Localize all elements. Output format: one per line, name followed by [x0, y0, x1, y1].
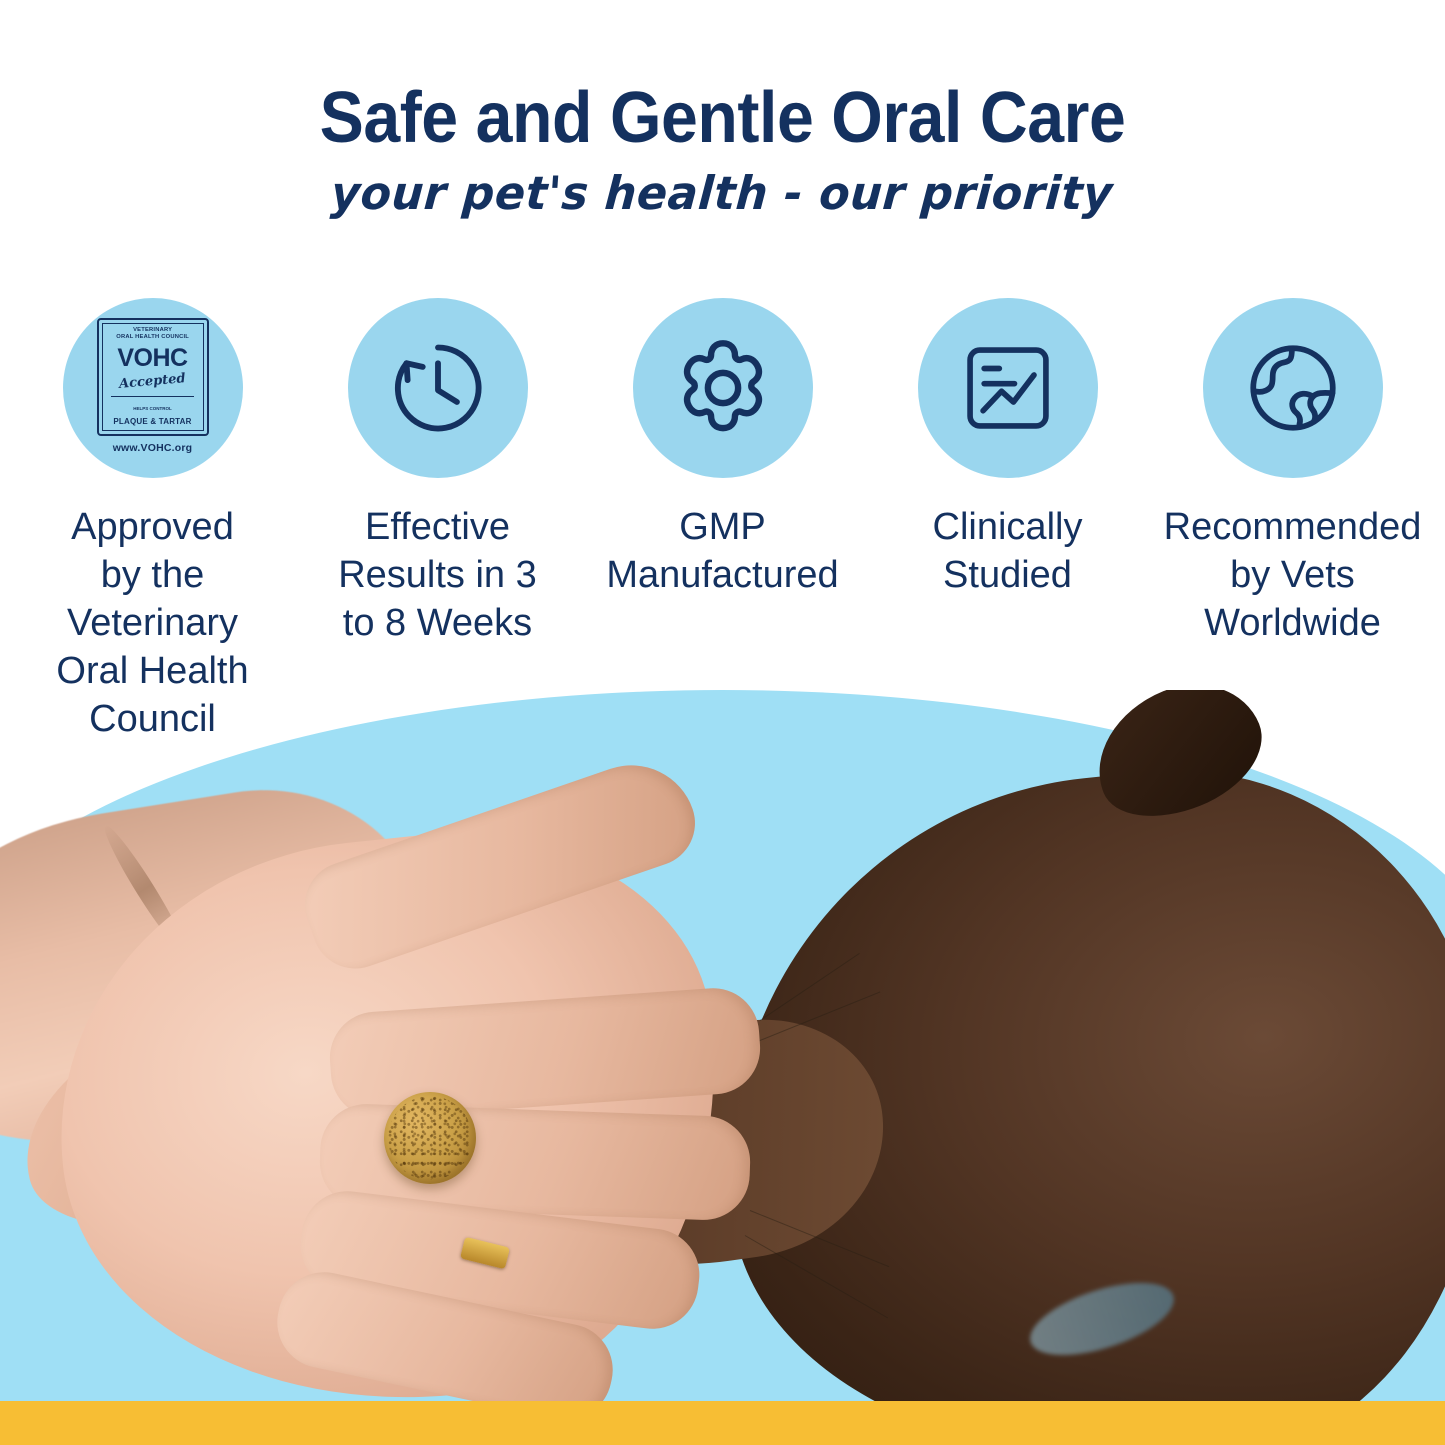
page-title: Safe and Gentle Oral Care [58, 0, 1387, 154]
vohc-seal-mark: VOHC [117, 347, 187, 371]
header: Safe and Gentle Oral Care your pet's hea… [0, 0, 1445, 216]
badge-caption: Recommended by Vets Worldwide [1163, 504, 1423, 648]
vohc-seal-script: Accepted [119, 372, 187, 391]
bottom-accent-bar [0, 1401, 1445, 1445]
product-lifestyle-photo [0, 690, 1445, 1402]
vohc-seal-icon: VETERINARY ORAL HEALTH COUNCIL VOHC Acce… [93, 318, 213, 458]
vohc-seal-bottom-line-1: HELPS CONTROL [133, 406, 172, 411]
vohc-seal-url: www.VOHC.org [113, 442, 193, 454]
badge-caption: Effective Results in 3 to 8 Weeks [308, 504, 568, 648]
badge-caption: GMP Manufactured [593, 504, 853, 600]
feature-badge-row: VETERINARY ORAL HEALTH COUNCIL VOHC Acce… [0, 298, 1445, 738]
vohc-seal-top-line-2: ORAL HEALTH COUNCIL [116, 334, 189, 341]
badge-circle [1203, 298, 1383, 478]
chart-trend-icon [956, 336, 1060, 440]
clock-refresh-icon [384, 334, 492, 442]
feature-badge-effective-results: Effective Results in 3 to 8 Weeks [295, 298, 580, 648]
badge-circle [348, 298, 528, 478]
badge-circle [918, 298, 1098, 478]
feature-badge-vohc-approved: VETERINARY ORAL HEALTH COUNCIL VOHC Acce… [10, 298, 295, 743]
badge-caption: Clinically Studied [878, 504, 1138, 600]
vohc-seal-top-line-1: VETERINARY [116, 327, 189, 334]
page-subtitle: your pet's health - our priority [20, 154, 1426, 216]
badge-circle [633, 298, 813, 478]
feature-badge-vet-recommended: Recommended by Vets Worldwide [1150, 298, 1435, 648]
vohc-seal-bottom-line-2: PLAQUE & TARTAR [113, 417, 191, 427]
badge-circle: VETERINARY ORAL HEALTH COUNCIL VOHC Acce… [63, 298, 243, 478]
gear-icon [668, 333, 778, 443]
feature-badge-gmp-manufactured: GMP Manufactured [580, 298, 865, 600]
dental-chew-product [384, 1092, 476, 1184]
vohc-seal-divider [111, 396, 194, 397]
globe-icon [1240, 335, 1346, 441]
product-infographic: Safe and Gentle Oral Care your pet's hea… [0, 0, 1445, 1445]
feature-badge-clinically-studied: Clinically Studied [865, 298, 1150, 600]
